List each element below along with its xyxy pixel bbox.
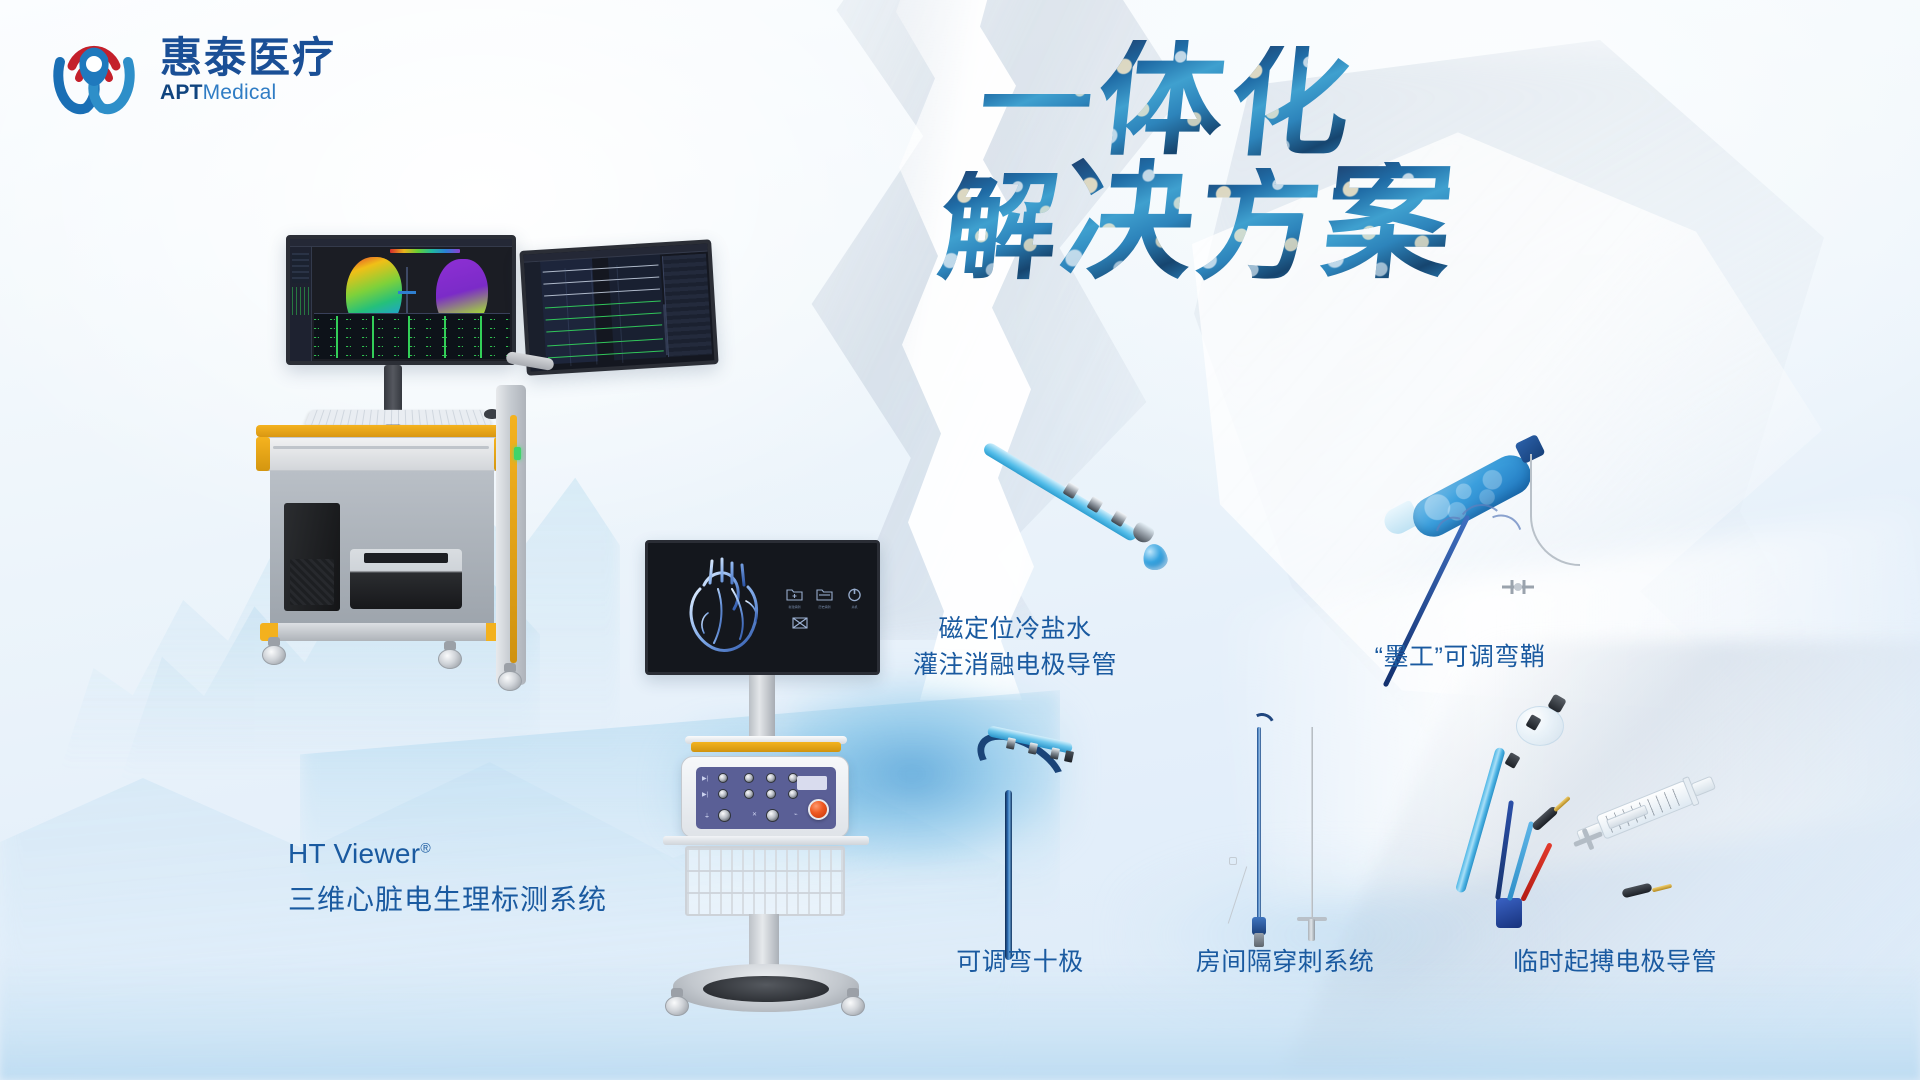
- heart-illustration: [674, 555, 774, 663]
- electrode-band: [1504, 752, 1520, 769]
- side-arm-tubing: [1228, 866, 1247, 923]
- headline-char-an: 案: [1318, 162, 1459, 284]
- tip-electrode: [1064, 750, 1074, 762]
- headline-calligraphy: 一 体 化 解 决 方 案: [950, 40, 1610, 350]
- connector-port[interactable]: [766, 789, 776, 799]
- caster-wheel: [438, 641, 462, 669]
- folder-icon[interactable]: 历史病例: [816, 587, 833, 602]
- cart-top-shelf: [256, 425, 508, 437]
- needle-hub-stem: [1308, 919, 1315, 941]
- keyboard[interactable]: [305, 410, 491, 425]
- product-label-ablation-catheter: 磁定位冷盐水 灌注消融电极导管: [855, 612, 1175, 683]
- side-port: [1229, 857, 1237, 865]
- electrode-band: [1050, 747, 1060, 759]
- connector-pin: [1553, 796, 1571, 812]
- connector-port[interactable]: [766, 773, 776, 783]
- storage-basket: [685, 846, 845, 916]
- logo-medical-text: Medical: [203, 81, 277, 104]
- headline-char-jue: 决: [1055, 158, 1200, 283]
- caster-wheel: [665, 988, 689, 1016]
- product-ablation-catheter: [985, 440, 1205, 580]
- connector-port[interactable]: [788, 789, 798, 799]
- saline-droplet: [1141, 542, 1170, 572]
- product-transseptal-system: [1215, 705, 1345, 940]
- headline-line-2: 解 决 方 案: [940, 158, 1452, 283]
- mapping-system-cart: [248, 235, 688, 815]
- ht-viewer-name: HT Viewer®: [288, 838, 607, 870]
- cart-drawer[interactable]: [262, 437, 500, 471]
- display-shelf-accent: [691, 742, 841, 752]
- product-label-transseptal-system: 房间隔穿刺系统: [1145, 945, 1425, 981]
- product-label-decapolar-catheter: 可调弯十极: [890, 945, 1150, 981]
- catheter-shaft: [1005, 790, 1012, 960]
- new-folder-icon[interactable]: 新建病例: [786, 587, 803, 602]
- product-label-text: 房间隔穿刺系统: [1196, 948, 1375, 976]
- sheath-curved-tip: [1246, 710, 1279, 743]
- caster-wheel: [262, 637, 286, 665]
- logo-english-name: APTMedical: [160, 82, 336, 104]
- hemostasis-valve: [1498, 578, 1538, 594]
- headline-char-ti: 体: [1092, 40, 1231, 160]
- connector-port[interactable]: [718, 789, 728, 799]
- power-icon[interactable]: 关机: [846, 587, 863, 602]
- product-label-text: 可调弯十极: [956, 948, 1084, 976]
- connector-pin: [1652, 884, 1672, 893]
- ht-viewer-name-cn: 三维心脏电生理标测系统: [288, 878, 607, 918]
- screen-action-icons: 新建病例 历史病例 关机: [786, 587, 863, 602]
- headline-line-1: 一 体 化: [980, 40, 1350, 160]
- product-label-steerable-sheath: “墨工”可调弯鞘: [1300, 640, 1620, 676]
- cart-frame: [256, 425, 508, 685]
- logo-apt-text: APT: [160, 81, 203, 104]
- caster-wheel: [498, 663, 522, 691]
- heart-visualization-screen: 新建病例 历史病例 关机: [645, 540, 880, 675]
- cart-base-shelf: [260, 623, 504, 641]
- display-stand-neck: [749, 675, 775, 745]
- product-pacing-catheter: [1490, 690, 1740, 940]
- ecg-strip-panel: [314, 313, 510, 359]
- logo-chinese-name: 惠泰医疗: [160, 36, 336, 80]
- trademark-symbol: ®: [420, 840, 431, 856]
- mesh-icon[interactable]: [791, 615, 809, 631]
- transseptal-sheath: [1257, 727, 1261, 927]
- release-button[interactable]: [808, 799, 829, 820]
- signal-port[interactable]: [766, 809, 779, 822]
- ablation-tip-electrode: [1130, 520, 1156, 546]
- new-folder-label: 新建病例: [788, 605, 800, 609]
- electrophysiology-recording-screen: [519, 239, 718, 375]
- apt-medical-loop-logo-icon: [46, 22, 142, 118]
- power-indicator-led: [514, 447, 521, 460]
- power-label: 关机: [851, 605, 857, 609]
- product-steerable-sheath: [1390, 440, 1690, 600]
- connector-base: [1496, 898, 1522, 928]
- product-label-text: 磁定位冷盐水 灌注消融电极导管: [913, 615, 1117, 679]
- headline-char-jie: 解: [934, 171, 1064, 283]
- poster-canvas: 惠泰医疗 APTMedical 一 体 化 解 决 方 案: [0, 0, 1920, 1080]
- brand-logo[interactable]: 惠泰医疗 APTMedical: [46, 22, 336, 118]
- computer-tower: [284, 503, 340, 611]
- headline-char-fang: 方: [1192, 168, 1326, 284]
- product-label-text: “墨工”可调弯鞘: [1375, 643, 1546, 671]
- three-dimensional-mapping-screen: [286, 235, 516, 365]
- product-label-pacing-catheter: 临时起搏电极导管: [1445, 945, 1785, 981]
- panel-badge: [797, 776, 827, 790]
- ht-viewer-caption: HT Viewer® 三维心脏电生理标测系统: [288, 838, 607, 918]
- sheath-tubing: [1530, 454, 1580, 566]
- instrument-tray: [663, 836, 869, 845]
- product-label-text: 临时起搏电极导管: [1513, 948, 1717, 976]
- transseptal-needle: [1311, 727, 1313, 927]
- connector-port[interactable]: [718, 773, 728, 783]
- lead-connector[interactable]: [1621, 883, 1652, 899]
- cart-base-inner: [703, 976, 829, 1002]
- ht-viewer-name-text: HT Viewer: [288, 838, 420, 869]
- printer: [350, 549, 462, 609]
- folder-label: 历史病例: [818, 605, 830, 609]
- headline-char-hua: 化: [1224, 46, 1356, 160]
- ground-port[interactable]: [718, 809, 731, 822]
- connector-port[interactable]: [744, 773, 754, 783]
- product-decapolar-catheter: [955, 730, 1115, 950]
- cart-post-left: [256, 437, 270, 471]
- catheter-shaft: [982, 441, 1140, 543]
- connector-port[interactable]: [744, 789, 754, 799]
- junction-box-unit: ▶| ▶| ⏚ ✕ ⌁: [681, 756, 849, 838]
- caster-wheel: [841, 988, 865, 1016]
